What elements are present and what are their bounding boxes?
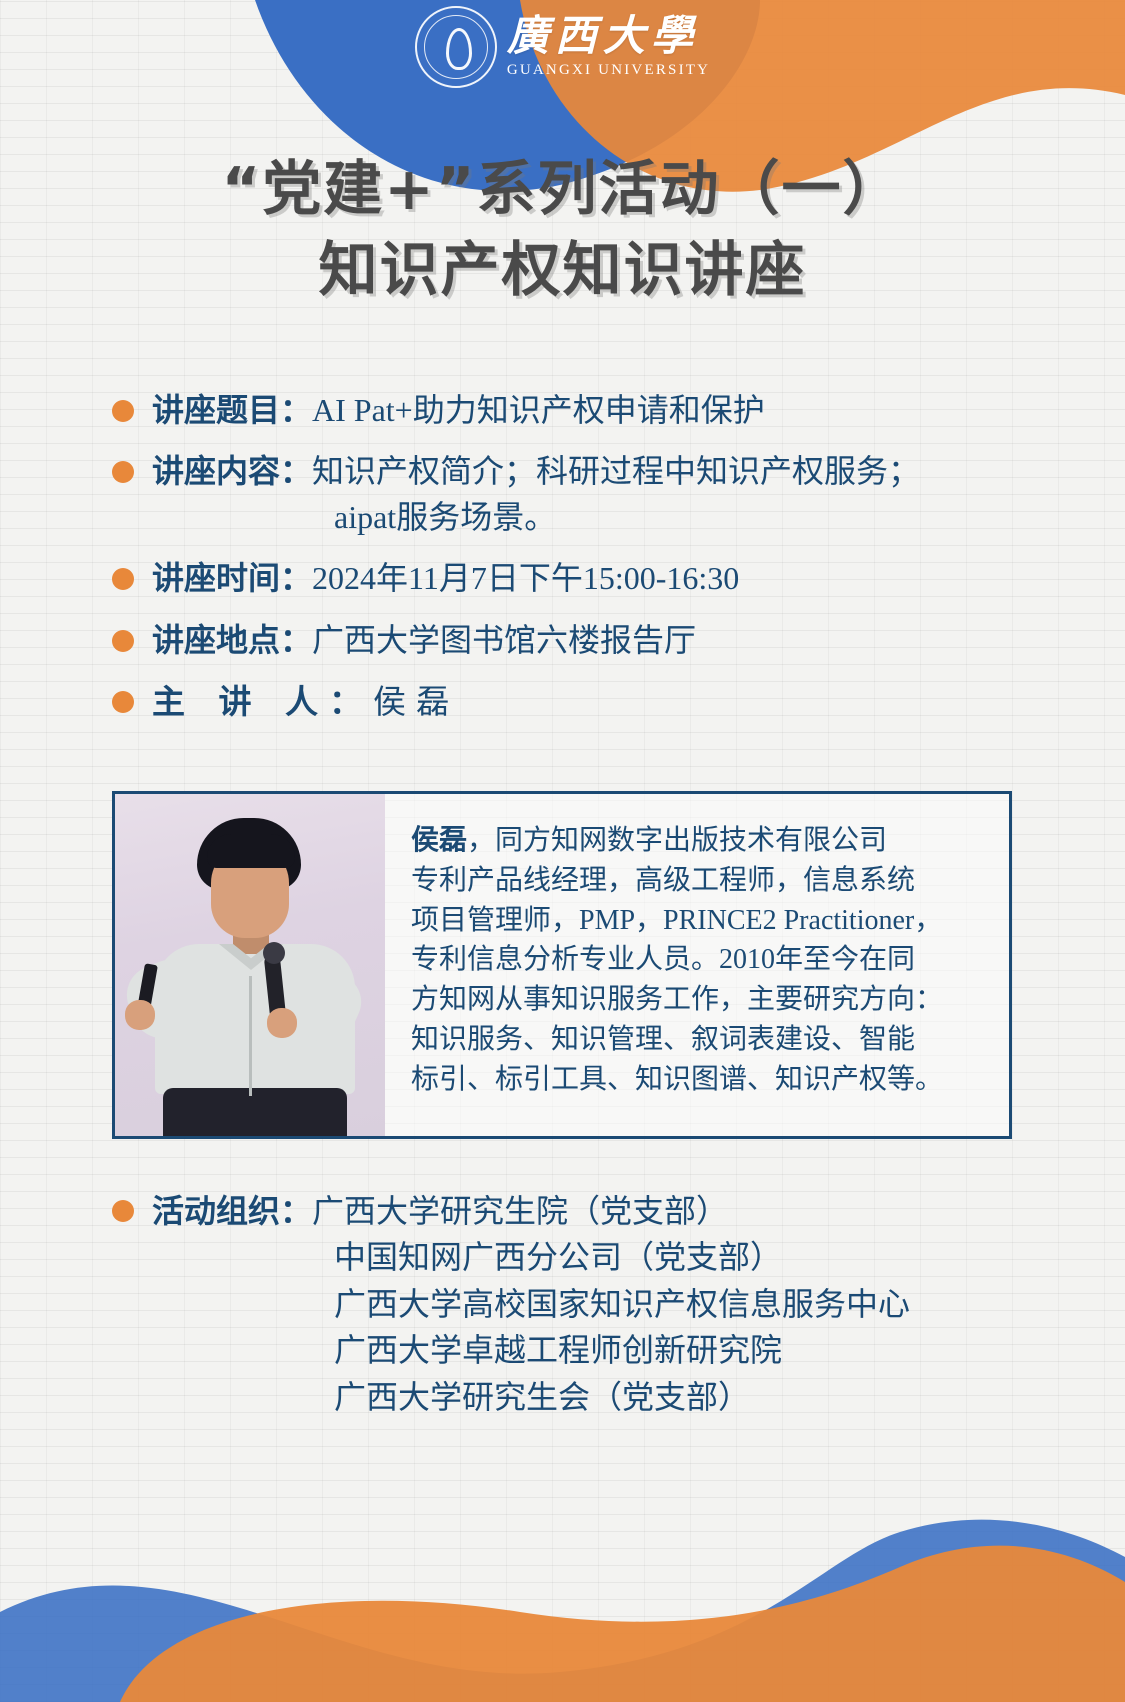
portrait-fringe xyxy=(207,834,295,868)
organizer-name: 中国知网广西分公司（党支部） xyxy=(112,1234,1042,1280)
logo-text-block: 廣西大學 GUANGXI UNIVERSITY xyxy=(507,16,710,78)
organizers-label: 活动组织： xyxy=(152,1186,312,1232)
info-value: 广西大学图书馆六楼报告厅 xyxy=(312,618,696,663)
info-item-body: 讲座地点： 广西大学图书馆六楼报告厅 xyxy=(152,618,1042,663)
bio-line: 专利产品线经理，高级工程师，信息系统 xyxy=(411,861,983,901)
poster-header: 廣西大學 GUANGXI UNIVERSITY xyxy=(0,0,1125,150)
info-item-body: 讲座内容： 知识产权简介；科研过程中知识产权服务； aipat服务场景。 xyxy=(152,449,1042,540)
seal-ring xyxy=(417,8,495,86)
logo-name-cn: 廣西大學 xyxy=(507,16,710,58)
title-block: “党建+”系列活动（一） 知识产权知识讲座 xyxy=(0,148,1125,311)
bio-line: 知识服务、知识管理、叙词表建设、智能 xyxy=(411,1020,983,1060)
portrait-left-hand xyxy=(125,1000,155,1030)
info-line: 讲座地点： 广西大学图书馆六楼报告厅 xyxy=(152,618,1042,663)
bullet-dot-icon xyxy=(112,691,134,713)
organizers-block: 活动组织： 广西大学研究生院（党支部） 中国知网广西分公司（党支部） 广西大学高… xyxy=(112,1186,1042,1420)
info-value-continuation: aipat服务场景。 xyxy=(152,495,1042,540)
bullet-dot-icon xyxy=(112,630,134,652)
info-line: 主 讲 人： 侯 磊 xyxy=(152,679,1042,727)
bio-speaker-name: 侯磊 xyxy=(411,823,467,856)
info-item-topic: 讲座题目： AI Pat+助力知识产权申请和保护 xyxy=(112,388,1042,433)
info-value: 侯 磊 xyxy=(373,680,450,727)
portrait-pants xyxy=(163,1088,347,1136)
bullet-dot-icon xyxy=(112,568,134,590)
info-line: 讲座时间： 2024年11月7日下午15:00-16:30 xyxy=(152,556,1042,601)
info-item-body: 讲座时间： 2024年11月7日下午15:00-16:30 xyxy=(152,556,1042,601)
bullet-dot-icon xyxy=(112,461,134,483)
bullet-dot-icon xyxy=(112,1200,134,1222)
organizer-line: 活动组织： 广西大学研究生院（党支部） xyxy=(152,1186,728,1234)
bio-line: 项目管理师，PMP，PRINCE2 Practitioner， xyxy=(411,901,983,941)
info-value: AI Pat+助力知识产权申请和保护 xyxy=(312,388,765,433)
bio-line: 专利信息分析专业人员。2010年至今在同 xyxy=(411,940,983,980)
organizer-name: 广西大学卓越工程师创新研究院 xyxy=(112,1327,1042,1373)
portrait-right-hand xyxy=(267,1008,297,1038)
info-label: 讲座地点： xyxy=(152,618,312,663)
info-line: 讲座题目： AI Pat+助力知识产权申请和保护 xyxy=(152,388,1042,433)
info-item-content: 讲座内容： 知识产权简介；科研过程中知识产权服务； aipat服务场景。 xyxy=(112,449,1042,540)
info-item-body: 主 讲 人： 侯 磊 xyxy=(152,679,1042,727)
organizers-first-row: 活动组织： 广西大学研究生院（党支部） xyxy=(112,1186,1042,1234)
organizer-name: 广西大学高校国家知识产权信息服务中心 xyxy=(112,1281,1042,1327)
bio-line: 标引、标引工具、知识图谱、知识产权等。 xyxy=(411,1060,983,1100)
speaker-bio-text: 侯磊，同方知网数字出版技术有限公司 专利产品线经理，高级工程师，信息系统 项目管… xyxy=(385,794,1009,1136)
lecture-info-list: 讲座题目： AI Pat+助力知识产权申请和保护 讲座内容： 知识产权简介；科研… xyxy=(112,388,1042,743)
info-item-body: 讲座题目： AI Pat+助力知识产权申请和保护 xyxy=(152,388,1042,433)
bullet-dot-icon xyxy=(112,400,134,422)
logo-name-en: GUANGXI UNIVERSITY xyxy=(507,63,710,78)
portrait-microphone-head xyxy=(263,942,285,964)
info-item-speaker: 主 讲 人： 侯 磊 xyxy=(112,679,1042,727)
organizer-name: 广西大学研究生会（党支部） xyxy=(112,1374,1042,1420)
organizer-name: 广西大学研究生院（党支部） xyxy=(312,1188,728,1234)
info-value: 2024年11月7日下午15:00-16:30 xyxy=(312,556,739,601)
info-label: 主 讲 人： xyxy=(152,679,373,726)
info-item-location: 讲座地点： 广西大学图书馆六楼报告厅 xyxy=(112,618,1042,663)
poster-title-line1: “党建+”系列活动（一） xyxy=(0,148,1125,229)
portrait-placket xyxy=(249,976,252,1096)
info-label: 讲座内容： xyxy=(152,449,312,494)
info-item-time: 讲座时间： 2024年11月7日下午15:00-16:30 xyxy=(112,556,1042,601)
speaker-bio-card: 侯磊，同方知网数字出版技术有限公司 专利产品线经理，高级工程师，信息系统 项目管… xyxy=(112,791,1012,1139)
speaker-photo xyxy=(115,794,385,1136)
info-label: 讲座时间： xyxy=(152,556,312,601)
bio-line-text: ，同方知网数字出版技术有限公司 xyxy=(467,825,887,856)
guangxi-university-seal-icon xyxy=(415,6,497,88)
bio-line: 方知网从事知识服务工作，主要研究方向： xyxy=(411,980,983,1020)
info-line: 讲座内容： 知识产权简介；科研过程中知识产权服务； xyxy=(152,449,1042,494)
poster-title-line2: 知识产权知识讲座 xyxy=(0,229,1125,310)
university-logo: 廣西大學 GUANGXI UNIVERSITY xyxy=(415,6,710,88)
info-label: 讲座题目： xyxy=(152,388,312,433)
organizers-body: 活动组织： 广西大学研究生院（党支部） xyxy=(152,1186,728,1234)
poster-canvas: 廣西大學 GUANGXI UNIVERSITY “党建+”系列活动（一） 知识产… xyxy=(0,0,1125,1702)
bio-line: 侯磊，同方知网数字出版技术有限公司 xyxy=(411,820,983,861)
info-value: 知识产权简介；科研过程中知识产权服务； xyxy=(312,449,920,494)
